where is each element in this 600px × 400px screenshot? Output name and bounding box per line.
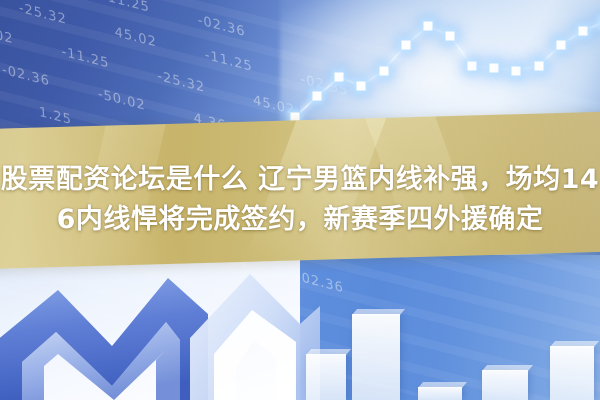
bar-column-top: [352, 309, 405, 315]
line-chart-node: [335, 73, 344, 82]
stock-news-banner: -02.36-50.02-11.25-02.361.25-25.3245.02-…: [0, 0, 600, 400]
line-chart-node: [490, 64, 499, 73]
bar-column: [550, 346, 594, 400]
zigzag-arrow-svg: [0, 250, 320, 400]
line-chart-node: [534, 61, 543, 70]
line-chart-node: [423, 22, 432, 31]
line-chart-node: [468, 61, 477, 70]
line-chart-node: [313, 92, 322, 101]
zigzag-arrow-graphic: [0, 250, 320, 400]
bar-column: [482, 370, 528, 400]
line-chart-node: [512, 66, 521, 75]
line-chart-node: [446, 31, 455, 40]
line-chart-node: [379, 66, 388, 75]
headline-line-1: 股票配资论坛是什么 辽宁男篮内线补强，场均14: [0, 160, 600, 200]
bar-chart: [300, 250, 600, 400]
bar-column-top: [418, 382, 467, 388]
bar-column: [306, 354, 346, 400]
bar-column: [352, 314, 400, 400]
bar-column-top: [306, 349, 351, 355]
bar-column-top: [550, 341, 599, 347]
line-chart-node: [556, 40, 565, 49]
line-chart-node: [401, 40, 410, 49]
bar-column: [418, 387, 462, 400]
bar-column-top: [482, 365, 533, 371]
line-chart-node: [357, 81, 366, 90]
headline-line-2: 6内线悍将完成签约，新赛季四外援确定: [0, 200, 600, 240]
line-chart-node: [578, 26, 587, 35]
headline-text: 股票配资论坛是什么 辽宁男篮内线补强，场均14 6内线悍将完成签约，新赛季四外援…: [0, 160, 600, 240]
